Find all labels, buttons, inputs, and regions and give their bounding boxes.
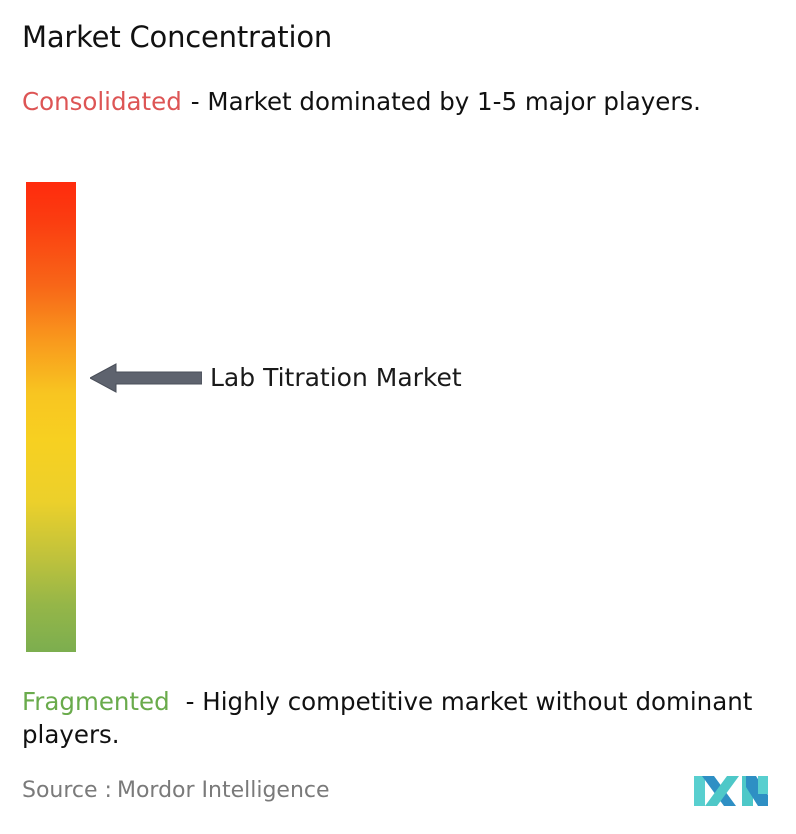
market-position-label: Lab Titration Market <box>210 362 462 394</box>
source-name-label: Mordor Intelligence <box>117 778 330 803</box>
legend-consolidated-description: - Market dominated by 1-5 major players. <box>191 87 701 116</box>
page-title: Market Concentration <box>22 20 332 54</box>
arrow-left-icon <box>90 362 202 394</box>
legend-fragmented-term: Fragmented <box>22 687 170 716</box>
legend-consolidated: Consolidated- Market dominated by 1-5 ma… <box>22 85 774 118</box>
legend-consolidated-term: Consolidated <box>22 87 182 116</box>
source-attribution: Source :Mordor Intelligence <box>22 778 330 803</box>
mordor-intelligence-logo-icon <box>694 770 768 812</box>
market-concentration-gradient-bar <box>26 182 76 652</box>
source-prefix-label: Source : <box>22 778 112 803</box>
legend-fragmented: Fragmented- Highly competitive market wi… <box>22 685 788 751</box>
